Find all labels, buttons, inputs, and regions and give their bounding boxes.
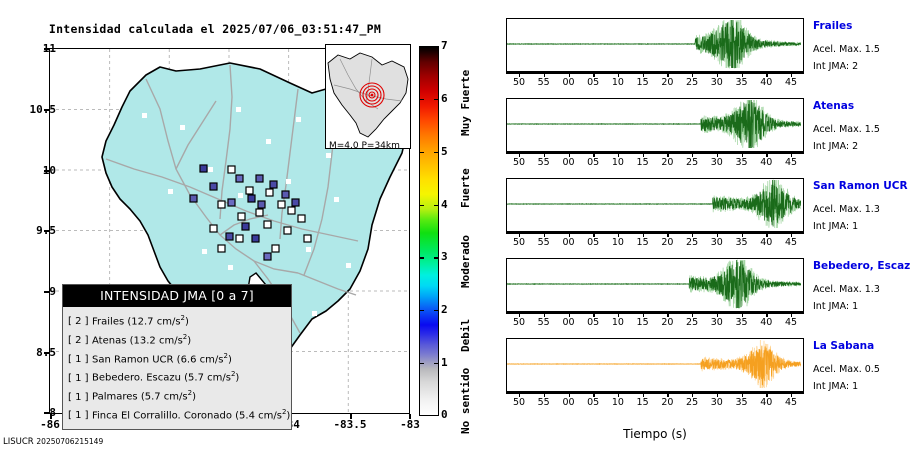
axis-tick-label: 45 [779,237,803,248]
tick-mark [44,109,49,111]
axis-tick-label: 30 [705,397,729,408]
tick-mark [44,352,49,354]
colorbar-category: Debil [459,319,472,352]
station-jma: Int JMA: 1 [813,221,858,232]
footer-code: 20250706215149 [36,437,103,446]
tick-mark [419,363,439,364]
axis-tick-label: 35 [730,317,754,328]
axis-tick-label: 15 [631,157,655,168]
map-x-tick: -83 [385,418,435,431]
map-x-tick: -83.5 [325,418,375,431]
axis-tick-label: 45 [779,157,803,168]
page-title: Intensidad calculada el 2025/07/06_03:51… [0,22,430,36]
axis-tick-label: 25 [680,157,704,168]
axis-tick-label: 40 [754,157,778,168]
axis-line [506,152,804,154]
axis-tick-label: 15 [631,237,655,248]
tick-mark [44,230,49,232]
legend-close: ) [187,335,191,346]
axis-tick-label: 55 [532,237,556,248]
colorbar-tick: 4 [441,198,448,211]
colorbar-tick: 2 [441,303,448,316]
legend-value: (5.7 cm/s [141,392,188,403]
tick-mark [50,414,52,419]
map-y-tick: 9 [16,285,56,298]
axis-tick-label: 20 [655,317,679,328]
map-y-tick: 8.5 [16,346,56,359]
axis-tick-label: 20 [655,237,679,248]
axis-tick-label: 35 [730,77,754,88]
legend-close: ) [228,354,232,365]
footer-label: LISUCR [3,437,34,447]
station-jma: Int JMA: 2 [813,61,858,72]
axis-tick-label: 35 [730,397,754,408]
legend-title: INTENSIDAD JMA [0 a 7] [63,285,291,307]
axis-tick-label: 25 [680,397,704,408]
legend-bracket: [ 2 ] [68,315,92,330]
axis-tick-label: 35 [730,157,754,168]
tick-mark [419,99,439,100]
colorbar-gradient [419,46,439,416]
axis-tick-label: 25 [680,237,704,248]
station-name: Atenas [813,100,854,112]
legend-item: [ 1 ]Bebedero. Escazu (5.7 cm/s2) [68,367,291,386]
epicenter-icon [371,94,374,97]
legend-value: (12.7 cm/s [127,316,180,327]
axis-tick-label: 40 [754,317,778,328]
colorbar-tick: 3 [441,250,448,263]
legend-item: [ 2 ]Atenas (13.2 cm/s2) [68,330,291,349]
legend-station: Atenas [92,335,126,346]
legend-bracket: [ 2 ] [68,334,92,349]
waveform-time-axis: 505500051015202530354045 [506,392,804,408]
axis-tick-label: 10 [606,237,630,248]
station-accel: Acel. Max. 1.3 [813,284,880,295]
legend-station: San Ramon UCR [92,354,173,365]
axis-tick-label: 10 [606,77,630,88]
tick-mark [419,310,439,311]
legend-value: (6.6 cm/s [177,354,224,365]
waveform-plot [506,98,804,152]
tick-mark [409,414,411,419]
seismogram-trace [507,339,801,389]
axis-tick-label: 05 [581,77,605,88]
legend-close: ) [185,316,189,327]
axis-tick-label: 40 [754,77,778,88]
legend-bracket: [ 1 ] [68,409,92,424]
colorbar-category: Muy Fuerte [459,70,472,136]
map-panel: Intensidad calculada el 2025/07/06_03:51… [0,0,470,460]
axis-tick-label: 05 [581,237,605,248]
magnitude-depth-label: M=4.0 P=34km [329,141,400,151]
legend-station: Frailes [92,316,124,327]
intensity-colorbar: 7 6 5 4 3 2 1 0 Muy Fuerte Fuerte Modera… [419,46,489,416]
axis-tick-label: 00 [557,397,581,408]
legend-value: (5.7 cm/s [184,373,231,384]
seismogram-trace [507,99,801,149]
legend-station: Palmares [92,392,138,403]
legend-item: [ 1 ]Finca El Corralillo. Coronado (5.4 … [68,405,291,424]
legend-bracket: [ 1 ] [68,372,92,387]
axis-tick-label: 50 [507,237,531,248]
waveform-plot [506,178,804,232]
axis-tick-label: 40 [754,237,778,248]
station-jma: Int JMA: 2 [813,141,858,152]
waveform-plot [506,258,804,312]
axis-tick-label: 30 [705,157,729,168]
axis-line [506,312,804,314]
axis-line [506,392,804,394]
colorbar-category: Moderado [459,235,472,288]
colorbar-tick: 0 [441,408,448,421]
station-accel: Acel. Max. 1.5 [813,124,880,135]
legend-value: (13.2 cm/s [130,335,183,346]
legend-value: (5.4 cm/s [235,410,282,421]
axis-tick-label: 15 [631,397,655,408]
inset-locator-map [325,44,411,149]
station-jma: Int JMA: 1 [813,301,858,312]
seismogram-trace [507,259,801,309]
station-name: Bebedero, Escazu [813,260,910,272]
legend-item: [ 1 ]Palmares (5.7 cm/s2) [68,386,291,405]
axis-tick-label: 55 [532,77,556,88]
colorbar-tick: 6 [441,92,448,105]
legend-close: ) [192,392,196,403]
axis-tick-label: 05 [581,157,605,168]
map-y-tick: 11 [16,42,56,55]
colorbar-tick: 5 [441,145,448,158]
station-name: La Sabana [813,340,874,352]
axis-tick-label: 40 [754,397,778,408]
axis-line [506,72,804,74]
legend-station: Finca El Corralillo. Coronado [92,410,232,421]
axis-tick-label: 35 [730,237,754,248]
waveform-panels: 505500051015202530354045 Frailes Acel. M… [495,0,910,460]
axis-tick-label: 15 [631,77,655,88]
tick-mark [44,412,49,414]
map-y-tick: 10 [16,164,56,177]
axis-tick-label: 10 [606,397,630,408]
axis-tick-label: 25 [680,77,704,88]
time-axis-label: Tiempo (s) [506,427,804,441]
axis-tick-label: 30 [705,237,729,248]
axis-tick-label: 00 [557,317,581,328]
axis-line [506,232,804,234]
axis-tick-label: 50 [507,317,531,328]
colorbar-category: No sentido [459,368,472,434]
axis-tick-label: 10 [606,317,630,328]
station-accel: Acel. Max. 1.5 [813,44,880,55]
station-accel: Acel. Max. 0.5 [813,364,880,375]
inset-map-svg [326,45,410,148]
axis-tick-label: 30 [705,77,729,88]
legend-bracket: [ 1 ] [68,391,92,406]
tick-mark [44,170,49,172]
intensity-legend: INTENSIDAD JMA [0 a 7] [ 2 ]Frailes (12.… [62,284,292,430]
axis-tick-label: 20 [655,397,679,408]
colorbar-category: Fuerte [459,168,472,208]
axis-tick-label: 45 [779,317,803,328]
axis-tick-label: 50 [507,77,531,88]
axis-tick-label: 20 [655,77,679,88]
axis-tick-label: 25 [680,317,704,328]
seismogram-trace [507,19,801,69]
station-jma: Int JMA: 1 [813,381,858,392]
axis-tick-label: 50 [507,397,531,408]
waveform-plot [506,18,804,72]
tick-mark [419,152,439,153]
station-name: Frailes [813,20,852,32]
legend-item: [ 1 ]San Ramon UCR (6.6 cm/s2) [68,349,291,368]
legend-close: ) [286,410,290,421]
axis-tick-label: 10 [606,157,630,168]
axis-tick-label: 00 [557,157,581,168]
tick-mark [419,257,439,258]
seismogram-trace [507,179,801,229]
axis-tick-label: 55 [532,317,556,328]
tick-mark [44,48,49,50]
tick-mark [419,205,439,206]
footer: LISUCR 20250706215149 [3,437,103,447]
station-name: San Ramon UCR [813,180,908,192]
legend-item: [ 2 ]Frailes (12.7 cm/s2) [68,311,291,330]
waveform-time-axis: 505500051015202530354045 [506,312,804,328]
colorbar-tick: 1 [441,356,448,369]
axis-tick-label: 45 [779,77,803,88]
axis-tick-label: 55 [532,157,556,168]
station-accel: Acel. Max. 1.3 [813,204,880,215]
axis-tick-label: 00 [557,77,581,88]
axis-tick-label: 05 [581,397,605,408]
waveform-time-axis: 505500051015202530354045 [506,152,804,168]
axis-tick-label: 55 [532,397,556,408]
axis-tick-label: 20 [655,157,679,168]
axis-tick-label: 05 [581,317,605,328]
map-y-tick: 9.5 [16,224,56,237]
legend-bracket: [ 1 ] [68,353,92,368]
tick-mark [350,414,352,419]
legend-station: Bebedero. Escazu [92,373,181,384]
map-y-tick: 10.5 [16,103,56,116]
tick-mark [44,291,49,293]
colorbar-tick: 7 [441,39,448,52]
waveform-time-axis: 505500051015202530354045 [506,72,804,88]
waveform-time-axis: 505500051015202530354045 [506,232,804,248]
axis-tick-label: 15 [631,317,655,328]
waveform-plot [506,338,804,392]
legend-close: ) [235,373,239,384]
axis-tick-label: 00 [557,237,581,248]
axis-tick-label: 50 [507,157,531,168]
axis-tick-label: 45 [779,397,803,408]
axis-tick-label: 30 [705,317,729,328]
legend-body: [ 2 ]Frailes (12.7 cm/s2) [ 2 ]Atenas (1… [63,307,291,429]
